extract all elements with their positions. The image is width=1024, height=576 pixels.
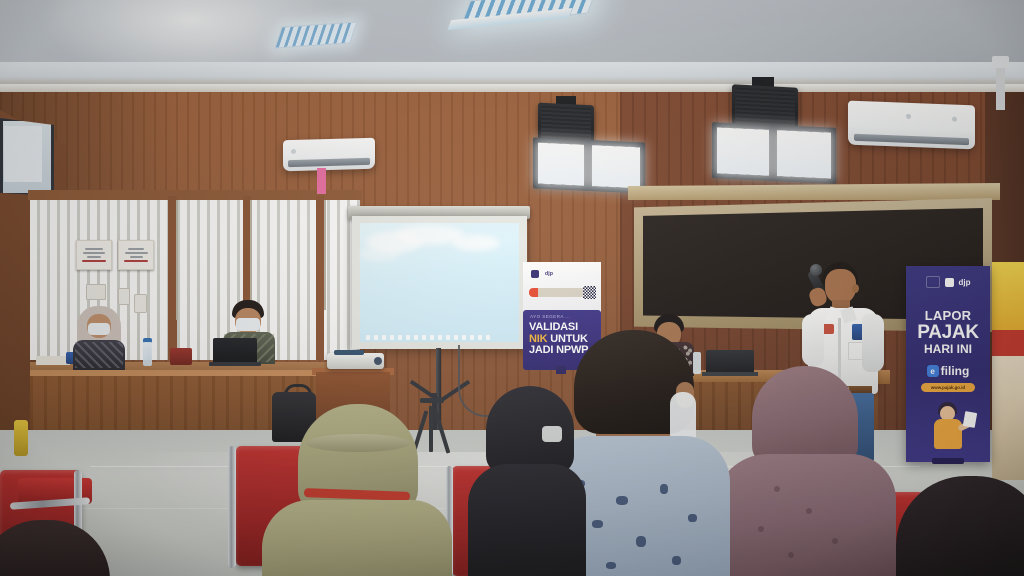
light-switch[interactable] (86, 284, 106, 300)
banner-line-1: LAPOR (906, 308, 990, 323)
window-mullion (316, 196, 324, 360)
banner-lapor-pajak: djp LAPOR PAJAK HARI INI e filing www.pa… (906, 266, 990, 462)
right-arm (862, 314, 884, 372)
banner-url-pill: www.pajak.go.id (921, 383, 975, 392)
banner-line-2: PAJAK (906, 322, 990, 344)
djp-logo-mark (945, 278, 954, 287)
blind-cord (176, 200, 178, 320)
chair-frame (228, 446, 236, 568)
wall-outlet (118, 288, 130, 305)
window-back-right-a (533, 137, 645, 193)
seated-woman-hijab (73, 306, 125, 368)
hijab-body (714, 454, 896, 576)
hijab-fold (306, 434, 410, 452)
qr-code-icon (583, 286, 596, 299)
face-mask (542, 426, 562, 442)
laptop-base (209, 362, 261, 366)
wall-notice-right (118, 240, 154, 270)
blind-cord (324, 200, 326, 310)
wall-poster-header (992, 330, 1024, 356)
face-mask (236, 318, 260, 331)
projector-lens (374, 357, 382, 365)
papers-on-table (36, 356, 70, 365)
wall-notice-left (76, 240, 112, 270)
projector-top-panel (334, 350, 364, 355)
djp-logo-text: djp (545, 271, 553, 277)
photo-scene: djp AYO SEGERA ... VALIDASI NIK UNTUK JA… (0, 0, 1024, 576)
red-bag-on-table (170, 348, 192, 365)
efiling-label: filing (941, 364, 970, 378)
banner-progress-bar (529, 288, 585, 297)
efiling-logo: e filing (916, 362, 980, 380)
projection-screen-content (360, 223, 519, 342)
yellow-object-floor (14, 420, 28, 456)
banner-line-3: HARI INI (906, 342, 990, 356)
banner-stand (932, 458, 964, 464)
efiling-badge-icon: e (927, 365, 939, 377)
illustration-document (963, 411, 977, 428)
djp-logo: djp (531, 270, 553, 278)
window-left-pane (4, 126, 42, 182)
face-mask (88, 323, 110, 335)
hijab-head (752, 366, 858, 466)
water-bottle (143, 342, 152, 366)
blind-headrail (28, 190, 362, 200)
hijab-body (262, 500, 452, 576)
djp-logo: djp (906, 276, 990, 288)
ac-pipe-cover (992, 56, 1009, 68)
blind-cord (250, 200, 252, 316)
audience-khaki-hijab (262, 404, 452, 576)
laptop[interactable] (213, 338, 257, 364)
air-conditioner-unit (283, 138, 375, 172)
banner-kicker-text: AYO SEGERA ... (530, 314, 570, 319)
audience-black-hijab (468, 386, 586, 576)
batik-pattern (75, 342, 123, 368)
illustration-body (934, 419, 962, 449)
ac-ribbon-tag (317, 168, 326, 194)
audience-mauve-hijab (714, 366, 896, 576)
microphone-head-icon (810, 264, 822, 276)
wall-outlet (134, 294, 147, 313)
djp-watermark (926, 276, 940, 288)
djp-logo-text: djp (959, 278, 971, 287)
wall-poster-yellow (992, 262, 1024, 332)
window-back-right-b (712, 122, 836, 184)
djp-logo-mark (531, 270, 539, 278)
ear (852, 284, 859, 293)
hijab-body (468, 464, 586, 576)
desktop-taskbar[interactable] (360, 333, 519, 342)
air-conditioner-unit (848, 101, 975, 150)
left-arm (802, 314, 824, 366)
